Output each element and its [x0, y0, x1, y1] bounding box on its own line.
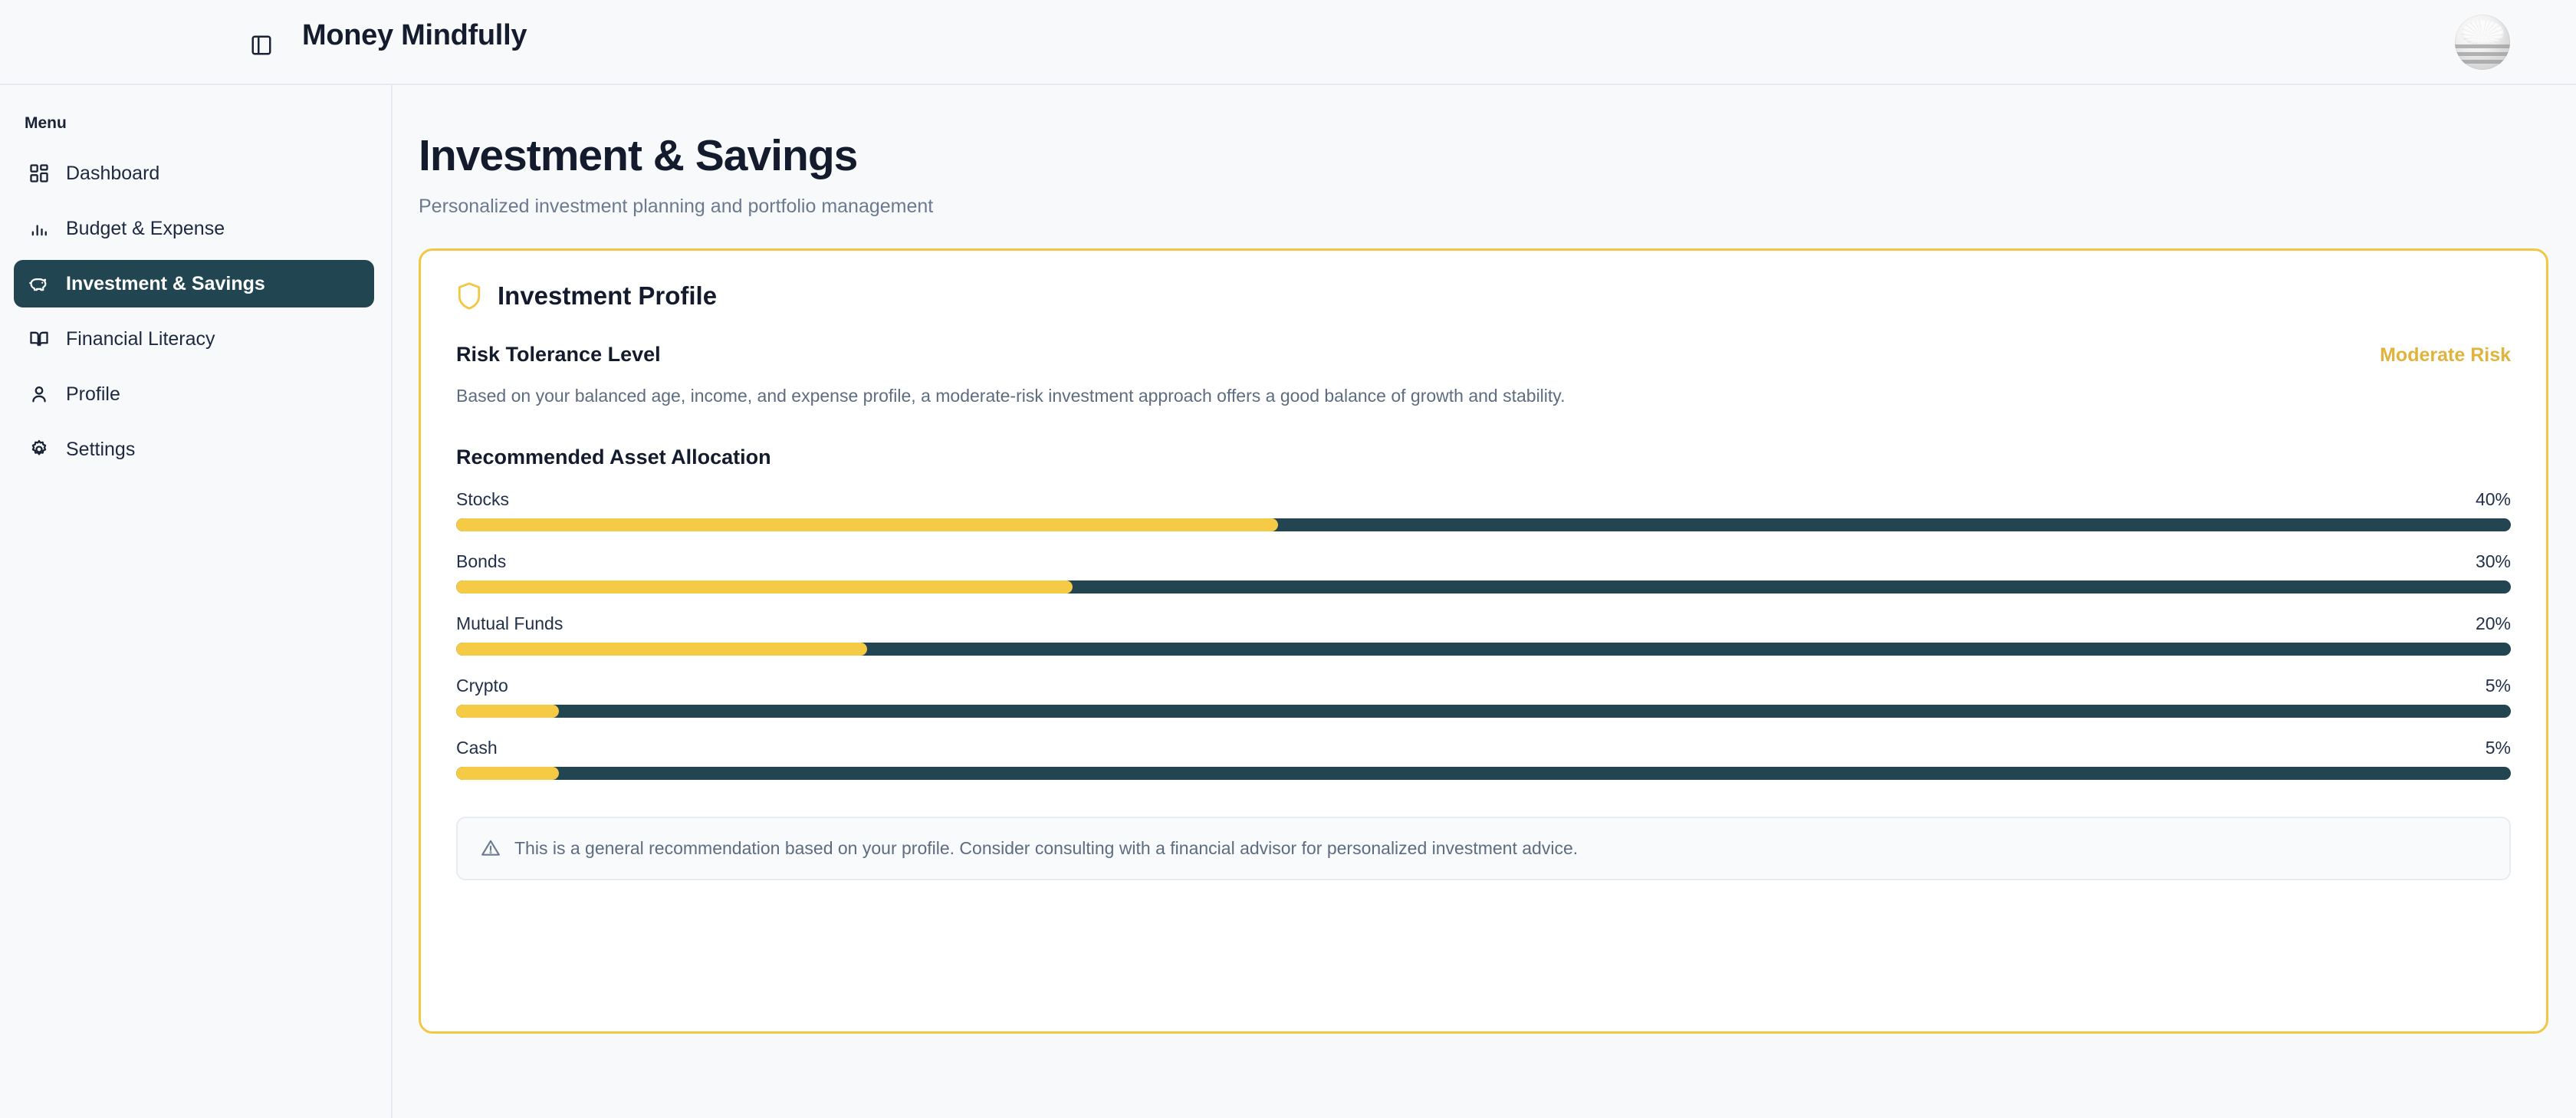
allocation-bar-fill — [456, 705, 559, 718]
disclaimer-text: This is a general recommendation based o… — [514, 838, 1578, 859]
allocation-bar-fill — [456, 580, 1073, 594]
sidebar-item-label: Settings — [66, 439, 135, 461]
sidebar: Menu Dashboard Budget & Expense — [0, 85, 393, 1118]
allocation-value: 5% — [2486, 738, 2511, 758]
sidebar-item-investment-savings[interactable]: Investment & Savings — [14, 260, 374, 307]
shield-icon — [456, 281, 482, 311]
panel-left-icon — [250, 34, 273, 57]
sidebar-item-label: Financial Literacy — [66, 328, 215, 350]
bar-chart-icon — [28, 217, 51, 240]
allocation-row: Cash 5% — [456, 738, 2511, 780]
allocation-label: Mutual Funds — [456, 613, 563, 634]
allocation-bar-track — [456, 518, 2511, 531]
sidebar-toggle-button[interactable] — [245, 29, 278, 61]
piggy-bank-icon — [28, 272, 51, 295]
allocation-row: Bonds 30% — [456, 551, 2511, 594]
allocation-value: 20% — [2476, 613, 2511, 634]
sidebar-item-profile[interactable]: Profile — [14, 370, 374, 418]
avatar-stripe — [2455, 44, 2510, 48]
allocation-bar-track — [456, 643, 2511, 656]
allocation-title: Recommended Asset Allocation — [456, 446, 2511, 469]
app-title: Money Mindfully — [302, 19, 527, 52]
sidebar-item-dashboard[interactable]: Dashboard — [14, 150, 374, 197]
allocation-row: Crypto 5% — [456, 676, 2511, 718]
sidebar-item-label: Budget & Expense — [66, 218, 225, 240]
allocation-bar-track — [456, 580, 2511, 594]
sidebar-item-label: Profile — [66, 383, 120, 406]
avatar[interactable] — [2455, 15, 2510, 70]
risk-description: Based on your balanced age, income, and … — [456, 383, 2511, 409]
sidebar-item-budget-expense[interactable]: Budget & Expense — [14, 205, 374, 252]
risk-tolerance-row: Risk Tolerance Level Moderate Risk — [456, 343, 2511, 367]
allocation-label: Crypto — [456, 676, 508, 696]
grid-icon — [28, 162, 51, 185]
card-title: Investment Profile — [498, 281, 717, 311]
allocation-bar-track — [456, 705, 2511, 718]
allocation-label: Bonds — [456, 551, 506, 572]
allocation-bar-fill — [456, 643, 867, 656]
allocation-bar-fill — [456, 767, 559, 780]
user-icon — [28, 383, 51, 406]
allocation-label: Stocks — [456, 489, 509, 510]
warning-triangle-icon — [481, 838, 501, 858]
sidebar-section-label: Menu — [25, 114, 391, 133]
app-header: Money Mindfully — [0, 0, 2576, 85]
allocation-bar-fill — [456, 518, 1278, 531]
main-content: Investment & Savings Personalized invest… — [393, 85, 2576, 1118]
allocation-row: Stocks 40% — [456, 489, 2511, 531]
disclaimer-note: This is a general recommendation based o… — [456, 817, 2511, 880]
allocation-label: Cash — [456, 738, 498, 758]
sidebar-item-label: Dashboard — [66, 163, 159, 185]
page-title: Investment & Savings — [419, 133, 2527, 180]
gear-icon — [28, 438, 51, 461]
risk-tolerance-label: Risk Tolerance Level — [456, 343, 661, 367]
card-header: Investment Profile — [456, 281, 2511, 311]
sidebar-item-label: Investment & Savings — [66, 273, 265, 295]
allocation-value: 40% — [2476, 489, 2511, 510]
sidebar-item-settings[interactable]: Settings — [14, 426, 374, 473]
allocation-bar-track — [456, 767, 2511, 780]
page-subtitle: Personalized investment planning and por… — [419, 196, 2527, 218]
avatar-stripe — [2455, 52, 2510, 56]
sidebar-item-financial-literacy[interactable]: Financial Literacy — [14, 315, 374, 363]
status-badge: Moderate Risk — [2380, 344, 2511, 367]
open-book-icon — [28, 327, 51, 350]
avatar-image — [2462, 20, 2504, 45]
allocation-value: 30% — [2476, 551, 2511, 572]
avatar-stripe — [2455, 60, 2510, 64]
investment-profile-card: Investment Profile Risk Tolerance Level … — [419, 248, 2548, 1034]
allocation-value: 5% — [2486, 676, 2511, 696]
allocation-row: Mutual Funds 20% — [456, 613, 2511, 656]
